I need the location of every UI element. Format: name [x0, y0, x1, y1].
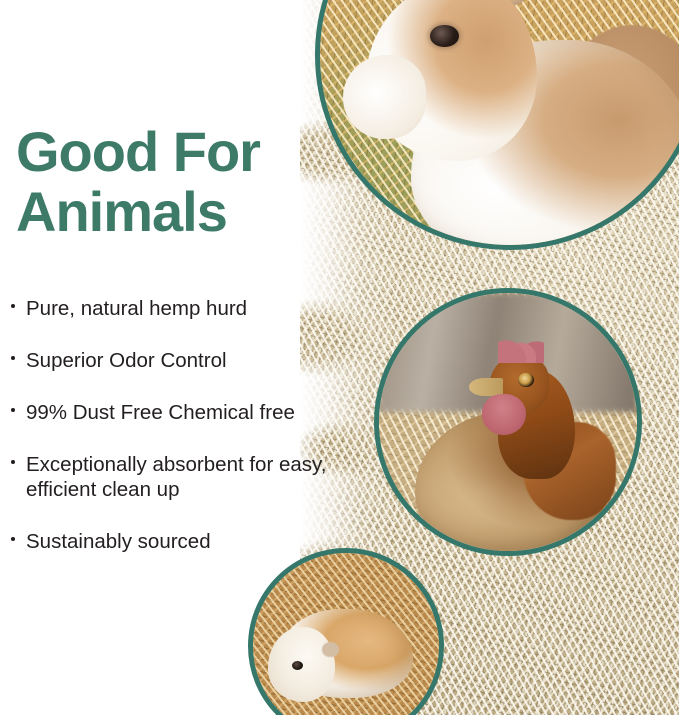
- rabbit-eye: [430, 25, 459, 48]
- list-item-label: Sustainably sourced: [26, 530, 211, 553]
- headline: Good For Animals: [16, 122, 326, 242]
- list-item: 99% Dust Free Chemical free: [8, 400, 344, 425]
- guinea-pig-photo: [248, 548, 444, 715]
- bullet-dot-icon: [11, 408, 15, 412]
- hen-comb: [498, 337, 544, 363]
- chicken-photo: [374, 288, 642, 556]
- hen-eye: [518, 373, 533, 387]
- list-item-label: Exceptionally absorbent for easy, effici…: [26, 453, 326, 501]
- rabbit-photo: [315, 0, 679, 250]
- guinea-pig-photo-inner: [253, 553, 439, 715]
- list-item: Superior Odor Control: [8, 348, 344, 373]
- hen-wattle: [482, 394, 526, 435]
- guinea-pig-ear: [322, 642, 339, 657]
- list-item: Sustainably sourced: [8, 529, 344, 554]
- list-item-label: Superior Odor Control: [26, 349, 227, 372]
- list-item-label: 99% Dust Free Chemical free: [26, 401, 295, 424]
- bullet-dot-icon: [11, 356, 15, 360]
- list-item: Exceptionally absorbent for easy, effici…: [8, 452, 344, 502]
- list-item-label: Pure, natural hemp hurd: [26, 297, 247, 320]
- benefits-list: Pure, natural hemp hurd Superior Odor Co…: [8, 296, 344, 554]
- product-infographic: Good For Animals Pure, natural hemp hurd…: [0, 0, 679, 715]
- bullet-dot-icon: [11, 537, 15, 541]
- bullet-dot-icon: [11, 460, 15, 464]
- chicken-photo-inner: [379, 293, 637, 551]
- bullet-dot-icon: [11, 304, 15, 308]
- list-item: Pure, natural hemp hurd: [8, 296, 344, 321]
- rabbit-snout: [343, 55, 427, 139]
- rabbit-photo-inner: [320, 0, 679, 245]
